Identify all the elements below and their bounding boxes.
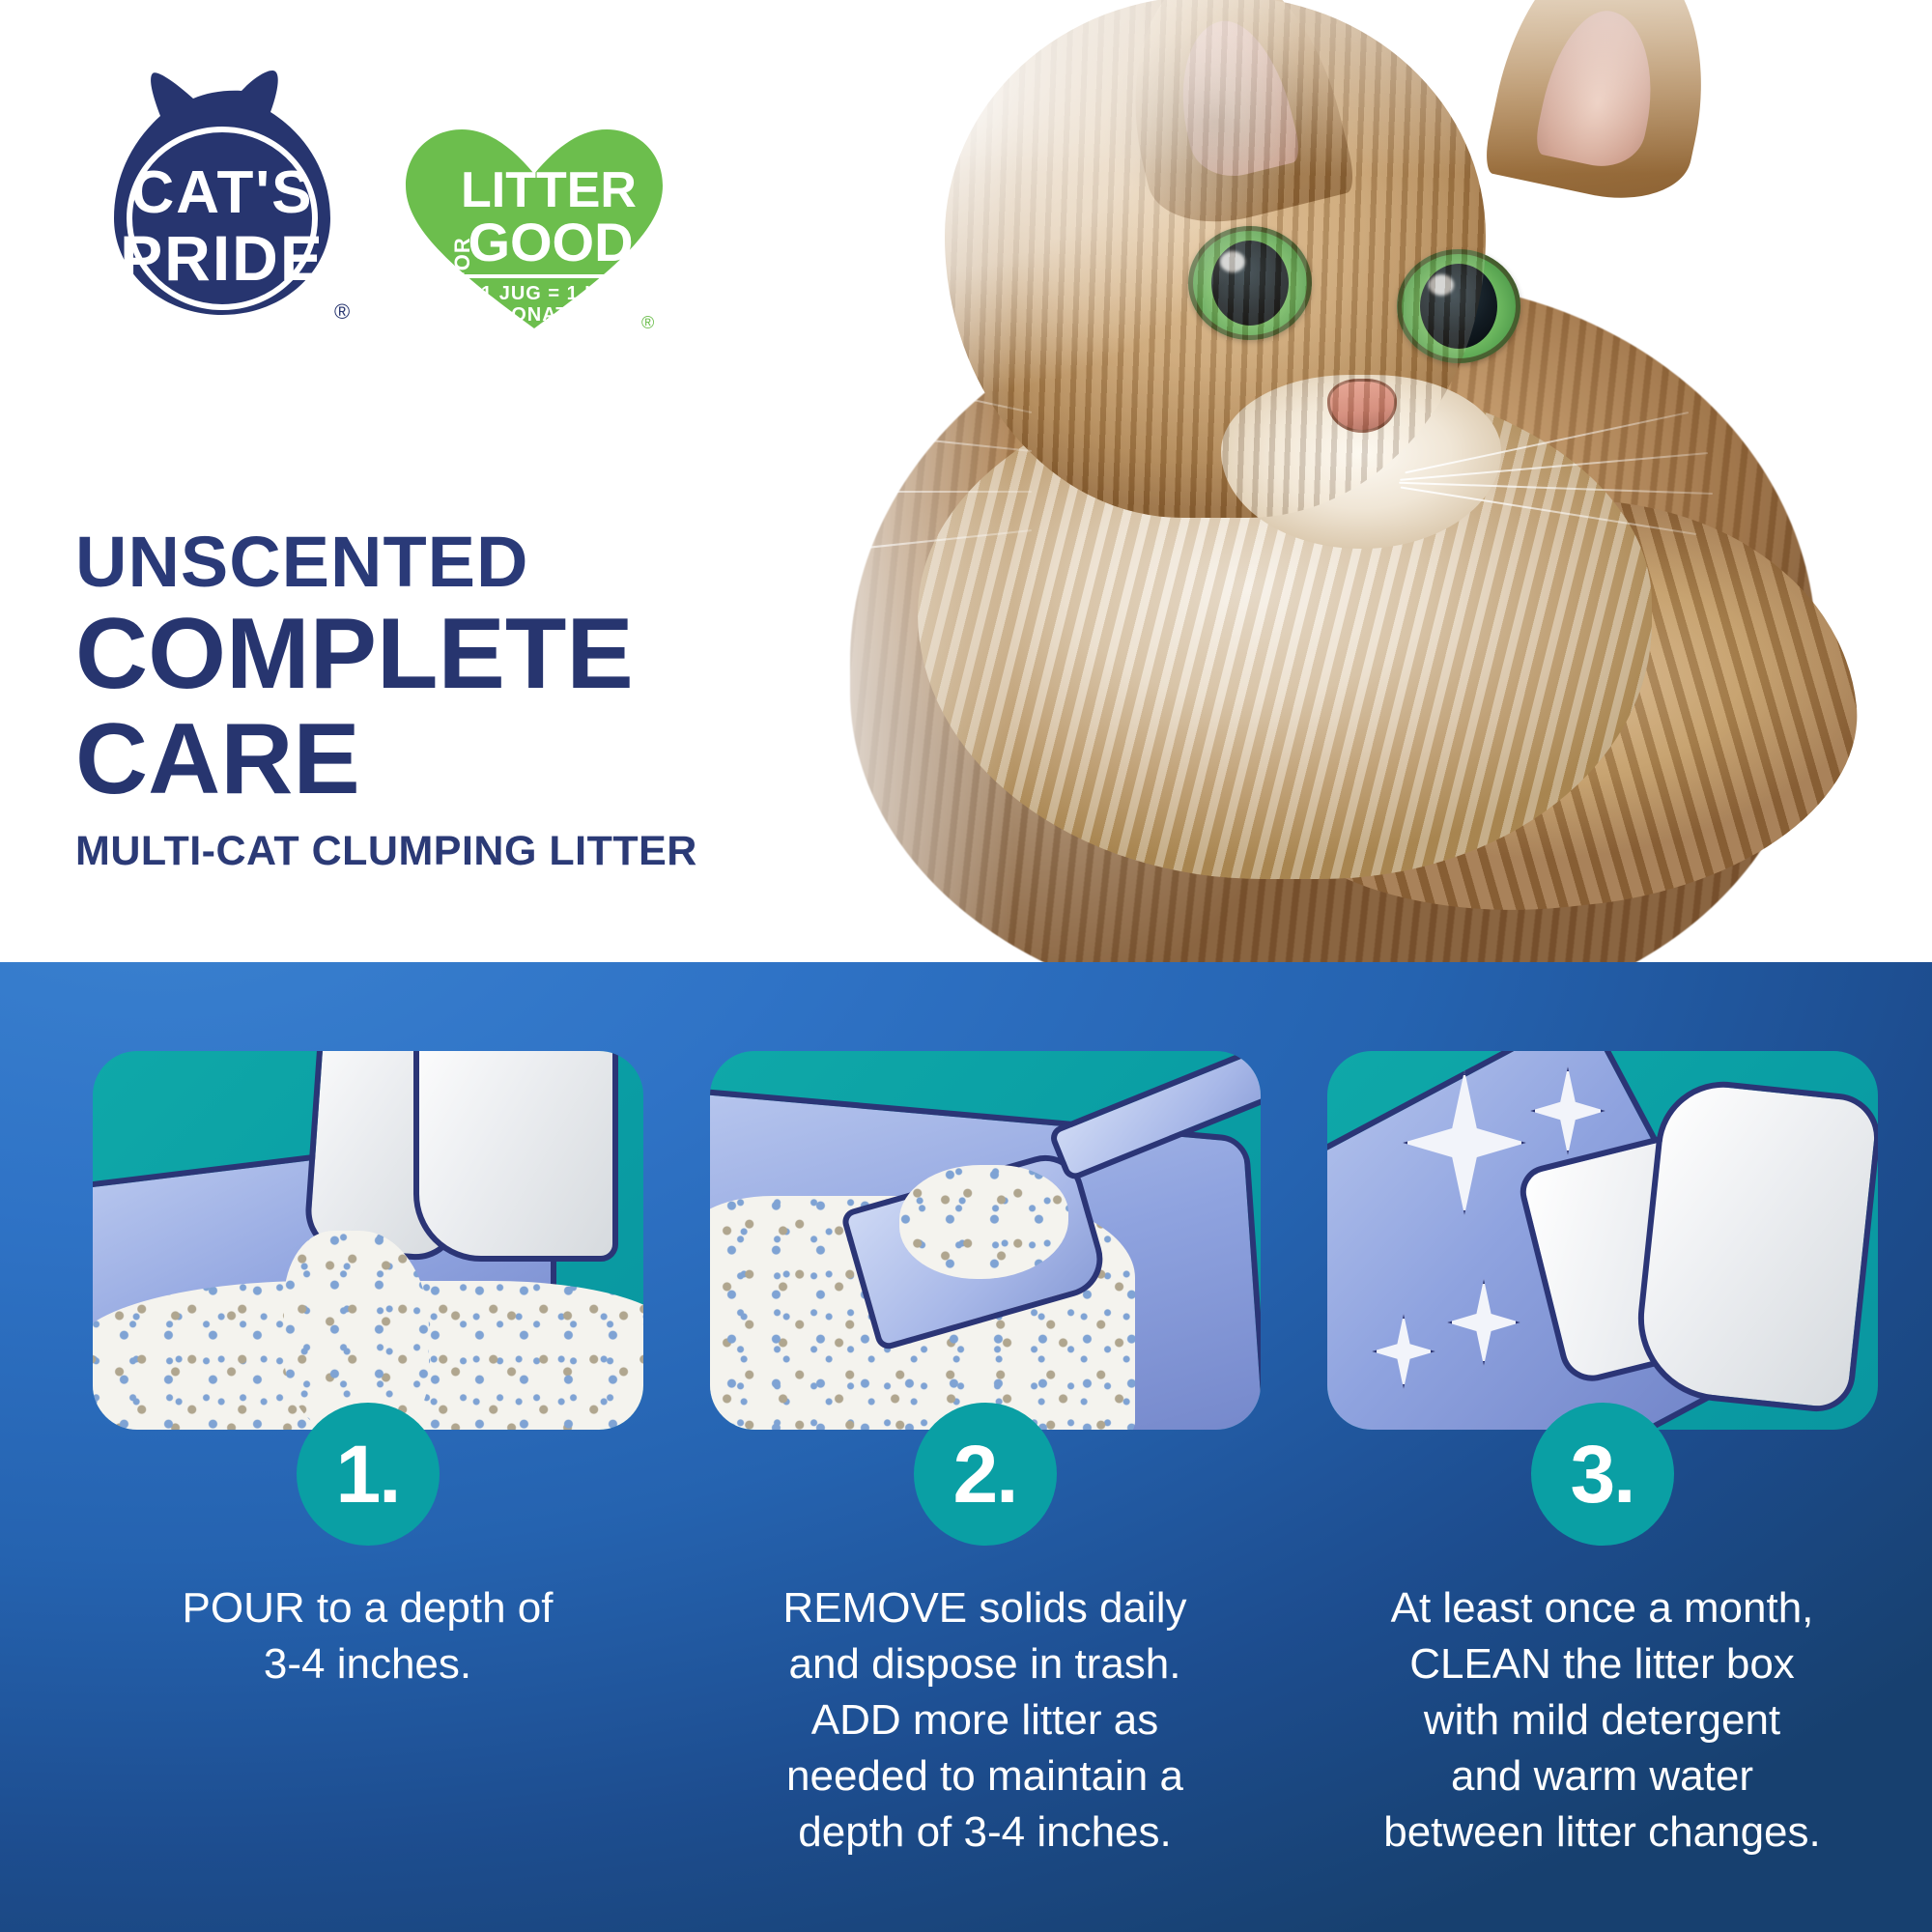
clean-litter-box-illustration — [1327, 1051, 1878, 1430]
svg-text:GOOD: GOOD — [468, 212, 633, 272]
title-complete: COMPLETE — [75, 602, 906, 707]
product-title-block: UNSCENTED COMPLETE CARE MULTI-CAT CLUMPI… — [75, 526, 906, 875]
cat-eye-right — [1397, 249, 1520, 363]
step-text-2: REMOVE solids daily and dispose in trash… — [698, 1580, 1271, 1861]
svg-text:LITTER: LITTER — [461, 162, 637, 218]
step-text-1: POUR to a depth of 3-4 inches. — [81, 1580, 654, 1692]
product-detail-image: CAT'S PRIDE ® LITTER GOOD FOR 1 JUG = 1 … — [0, 0, 1932, 1932]
cat-eye-left — [1188, 226, 1312, 340]
scoop-solids-illustration — [710, 1051, 1261, 1430]
svg-text:PRIDE: PRIDE — [120, 222, 325, 294]
cat-nose — [1327, 379, 1397, 433]
svg-text:®: ® — [334, 299, 350, 324]
step-badge-1: 1. — [297, 1403, 440, 1546]
title-unscented: UNSCENTED — [75, 526, 906, 598]
product-subtitle: MULTI-CAT CLUMPING LITTER — [75, 828, 906, 875]
instructions-section: 1. POUR to a depth of 3-4 inches. 2. REM… — [0, 962, 1932, 1932]
hand-shape — [1630, 1075, 1878, 1415]
svg-text:®: ® — [641, 313, 654, 332]
svg-text:DONATED: DONATED — [497, 304, 597, 326]
step-text-3: At least once a month, CLEAN the litter … — [1316, 1580, 1889, 1861]
title-care: CARE — [75, 707, 906, 812]
instruction-step-1: 1. POUR to a depth of 3-4 inches. — [71, 962, 664, 1932]
cats-pride-logo: CAT'S PRIDE ® — [93, 66, 352, 327]
cat-photo — [734, 0, 1932, 962]
instruction-step-2: 2. REMOVE solids daily and dispose in tr… — [689, 962, 1281, 1932]
litter-for-good-heart-logo: LITTER GOOD FOR 1 JUG = 1 LB DONATED ® — [394, 114, 674, 336]
svg-text:1 JUG = 1 LB: 1 JUG = 1 LB — [481, 283, 612, 304]
instruction-step-3: 3. At least once a month, CLEAN the litt… — [1306, 962, 1898, 1932]
step-badge-2: 2. — [914, 1403, 1057, 1546]
step-badge-3: 3. — [1531, 1403, 1674, 1546]
hero-section: CAT'S PRIDE ® LITTER GOOD FOR 1 JUG = 1 … — [0, 0, 1932, 962]
svg-text:CAT'S: CAT'S — [131, 159, 314, 226]
pour-litter-illustration — [93, 1051, 643, 1430]
